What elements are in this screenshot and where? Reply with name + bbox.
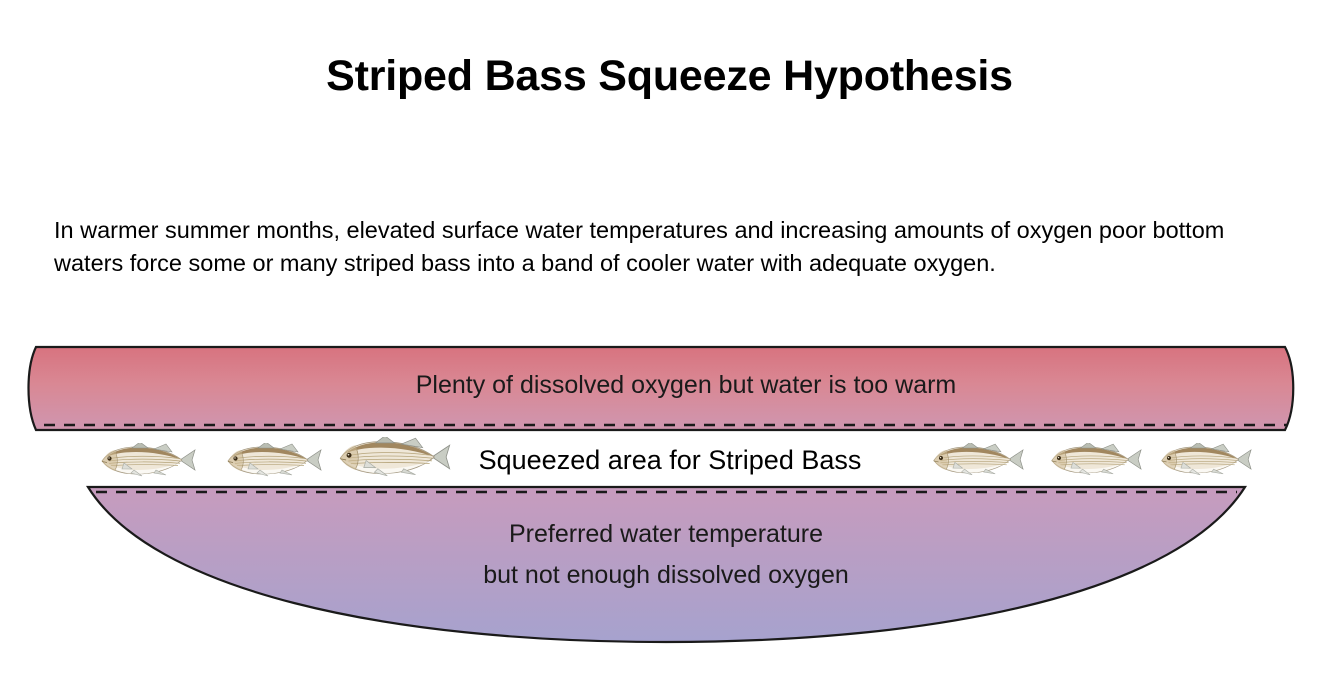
middle-band-label: Squeezed area for Striped Bass bbox=[479, 445, 862, 475]
diagram-svg: Plenty of dissolved oxygen but water is … bbox=[0, 330, 1339, 660]
page-title: Striped Bass Squeeze Hypothesis bbox=[0, 53, 1339, 100]
striped-bass-fish bbox=[934, 442, 1023, 475]
middle-band-group: Squeezed area for Striped Bass bbox=[102, 436, 1251, 476]
top-band-label: Plenty of dissolved oxygen but water is … bbox=[416, 371, 957, 399]
squeeze-diagram: Plenty of dissolved oxygen but water is … bbox=[0, 330, 1339, 660]
bottom-band-group: Preferred water temperature but not enou… bbox=[88, 487, 1245, 642]
striped-bass-fish bbox=[1052, 442, 1141, 475]
striped-bass-fish bbox=[1162, 442, 1251, 475]
striped-bass-fish bbox=[340, 436, 449, 476]
striped-bass-fish bbox=[102, 442, 195, 476]
fish-school-left bbox=[102, 436, 450, 476]
bottom-band-label-line1: Preferred water temperature bbox=[509, 520, 823, 548]
striped-bass-fish bbox=[228, 442, 321, 476]
intro-paragraph: In warmer summer months, elevated surfac… bbox=[54, 214, 1286, 280]
top-band-group: Plenty of dissolved oxygen but water is … bbox=[29, 347, 1294, 430]
bottom-band-label-line2: but not enough dissolved oxygen bbox=[483, 561, 849, 589]
fish-school-right bbox=[934, 442, 1251, 475]
